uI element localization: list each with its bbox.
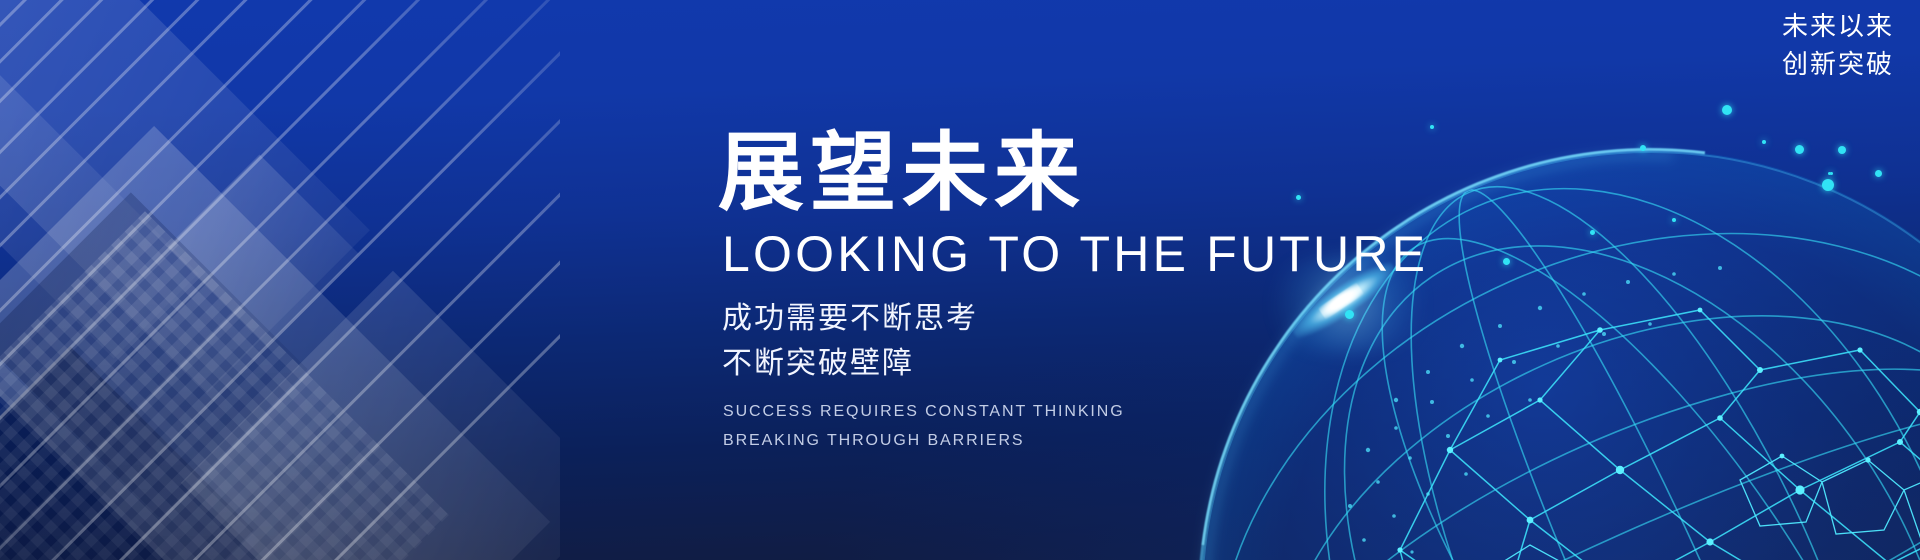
dot (1503, 258, 1510, 265)
dot (1590, 230, 1595, 235)
dot (1762, 140, 1766, 144)
dot (1838, 146, 1846, 154)
subtitle-en-line1: SUCCESS REQUIRES CONSTANT THINKING (723, 399, 1478, 426)
corner-slogan-line1: 未来以来 (1782, 8, 1894, 46)
headline-text-block: 展望未来 LOOKING TO THE FUTURE 成功需要不断思考 不断突破… (718, 128, 1478, 455)
diagonal-line-group (0, 0, 560, 560)
decor-panel-5 (181, 271, 560, 560)
decor-panel-2 (0, 126, 550, 560)
decor-panel-1 (0, 0, 370, 393)
decor-panel-3 (168, 155, 359, 346)
dot-grid-pattern (0, 211, 449, 560)
dot (1875, 170, 1882, 177)
dot (1822, 179, 1834, 191)
decor-panel-dark-2 (0, 346, 254, 560)
left-geometric-artwork (0, 0, 560, 560)
dot (1795, 145, 1804, 154)
hero-banner: 展望未来 LOOKING TO THE FUTURE 成功需要不断思考 不断突破… (0, 0, 1920, 560)
page-title-en: LOOKING TO THE FUTURE (722, 227, 1478, 282)
subtitle-cn-line2: 不断突破壁障 (722, 343, 1478, 386)
dot (1828, 172, 1831, 175)
corner-slogan-line2: 创新突破 (1782, 46, 1894, 84)
subtitle-en-line2: BREAKING THROUGH BARRIERS (723, 428, 1478, 455)
decor-panel-dark-1 (0, 192, 308, 517)
dot (1672, 218, 1676, 222)
dot (1640, 145, 1646, 151)
page-title-cn: 展望未来 (718, 128, 1478, 219)
dot (1722, 105, 1732, 115)
corner-slogan: 未来以来 创新突破 (1782, 8, 1894, 84)
subtitle-cn-line1: 成功需要不断思考 (722, 298, 1478, 341)
dot (1830, 172, 1833, 175)
decor-panel-4 (0, 62, 198, 359)
